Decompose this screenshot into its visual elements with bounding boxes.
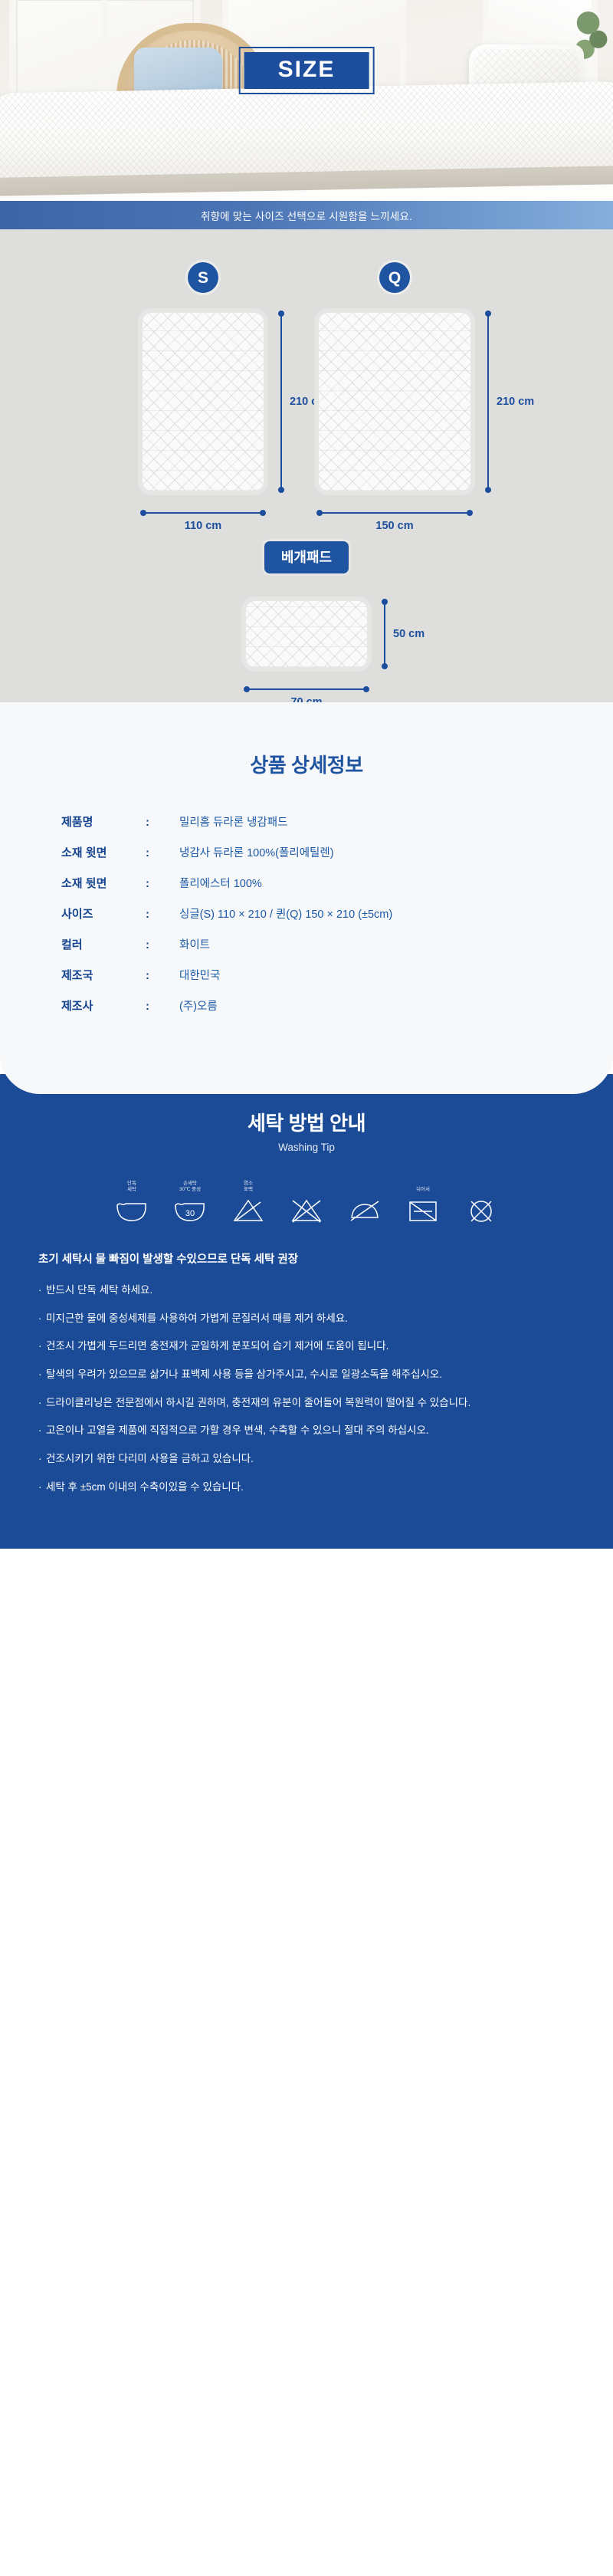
- washing-title: 세탁 방법 안내: [0, 1108, 613, 1136]
- spec-table: 제품명 : 밀리홈 듀라론 냉감패드 소재 윗면 : 냉감사 듀라론 100%(…: [61, 813, 552, 1014]
- single-width-dimension: 110 cm: [143, 512, 264, 514]
- spec-row: 소재 뒷면 : 폴리에스터 100%: [61, 875, 552, 891]
- spec-value: 밀리홈 듀라론 냉감패드: [179, 813, 287, 830]
- shade-dry-caption: 뉘어서: [416, 1179, 430, 1193]
- queen-badge: Q: [379, 262, 410, 293]
- list-item: 미지근한 물에 중성세제를 사용하여 가볍게 문질러서 때를 제거 하세요.: [38, 1309, 575, 1328]
- hero-subtitle-text: 취향에 맞는 사이즈 선택으로 시원함을 느끼세요.: [201, 208, 412, 223]
- single-badge: S: [188, 262, 218, 293]
- size-diagram-row: S 210 cm 110 cm Q: [0, 262, 613, 491]
- single-size-block: S 210 cm 110 cm: [143, 262, 264, 491]
- blue-cushion-image: [134, 48, 222, 95]
- spec-value: 대한민국: [179, 967, 220, 983]
- spec-key: 제조국: [61, 967, 146, 983]
- pillow-pad-title: 베개패드: [264, 541, 349, 573]
- spec-value: 싱글(S) 110 × 210 / 퀸(Q) 150 × 210 (±5cm): [179, 905, 392, 922]
- list-item: 건조시키기 위한 다리미 사용을 금하고 있습니다.: [38, 1450, 575, 1468]
- shade-dry-icon: 뉘어서: [399, 1179, 447, 1225]
- pillow-title-wrap: 베개패드: [0, 541, 613, 573]
- spec-row: 제조국 : 대한민국: [61, 967, 552, 983]
- spec-row: 제품명 : 밀리홈 듀라론 냉감패드: [61, 813, 552, 830]
- no-bleach-caption: 염소표백: [244, 1179, 253, 1193]
- pillow-width-line: [246, 688, 367, 690]
- washing-lead-text: 초기 세탁시 물 빠짐이 발생할 수있으므로 단독 세탁 권장: [38, 1251, 575, 1269]
- hero-subtitle-bar: 취향에 맞는 사이즈 선택으로 시원함을 느끼세요.: [0, 201, 613, 230]
- washing-subtitle: Washing Tip: [0, 1142, 613, 1153]
- size-badge-label: SIZE: [244, 52, 369, 89]
- pillow-pad-shape: [246, 601, 367, 667]
- spec-value: (주)오름: [179, 997, 218, 1014]
- single-width-label: 110 cm: [185, 520, 221, 532]
- care-symbol-row: 단독세탁 손세탁30℃ 중성 30 염소표백: [0, 1179, 613, 1225]
- list-item: 드라이클리닝은 전문점에서 하시길 권하며, 충전재의 유분이 줄어들어 복원력…: [38, 1394, 575, 1412]
- spec-key: 제품명: [61, 813, 146, 830]
- spec-row: 소재 윗면 : 냉감사 듀라론 100%(폴리에틸렌): [61, 844, 552, 860]
- list-item: 세탁 후 ±5cm 이내의 수축이있을 수 있습니다.: [38, 1478, 575, 1497]
- size-badge-outline: SIZE: [239, 47, 375, 94]
- no-iron-icon: [341, 1179, 388, 1225]
- queen-height-label: 210 cm: [497, 396, 534, 408]
- spec-row: 제조사 : (주)오름: [61, 997, 552, 1014]
- spec-key: 사이즈: [61, 905, 146, 922]
- spec-colon: :: [146, 938, 179, 951]
- single-mattress-shape: [143, 313, 264, 491]
- spec-value: 냉감사 듀라론 100%(폴리에틸렌): [179, 844, 334, 860]
- single-height-dimension: 210 cm: [280, 313, 282, 491]
- list-item: 탈색의 우려가 있으므로 삶거나 표백제 사용 등을 삼가주시고, 수시로 일광…: [38, 1365, 575, 1384]
- washing-instruction-list: 반드시 단독 세탁 하세요. 미지근한 물에 중성세제를 사용하여 가볍게 문질…: [38, 1281, 575, 1496]
- queen-mattress-shape: [319, 313, 470, 491]
- list-item: 고온이나 고열을 제품에 직접적으로 가할 경우 변색, 수축할 수 있으니 절…: [38, 1421, 575, 1440]
- queen-size-block: Q 210 cm 150 cm: [319, 262, 470, 491]
- spec-colon: :: [146, 908, 179, 921]
- separate-wash-caption: 단독세탁: [127, 1179, 136, 1193]
- spec-key: 컬러: [61, 936, 146, 952]
- spec-key: 제조사: [61, 997, 146, 1014]
- spec-colon: :: [146, 969, 179, 982]
- queen-width-dimension: 150 cm: [319, 512, 470, 514]
- pillow-width-dimension: 70 cm: [246, 688, 367, 690]
- queen-height-dimension: 210 cm: [487, 313, 489, 491]
- pillow-height-line: [384, 601, 385, 667]
- svg-text:30: 30: [185, 1209, 195, 1218]
- hand-wash-caption: 손세탁30℃ 중성: [179, 1179, 201, 1193]
- queen-width-line: [319, 512, 470, 514]
- separate-wash-icon: 단독세탁: [108, 1179, 156, 1225]
- list-item: 건조시 가볍게 두드리면 충전재가 균일하게 분포되어 습기 제거에 도움이 됩…: [38, 1337, 575, 1355]
- spec-colon: :: [146, 816, 179, 829]
- spec-colon: :: [146, 877, 179, 890]
- hero-banner: SIZE: [0, 0, 613, 201]
- spec-value: 화이트: [179, 936, 210, 952]
- no-oxygen-bleach-icon: [283, 1179, 330, 1225]
- size-diagram-section: S 210 cm 110 cm Q: [0, 230, 613, 702]
- single-mattress-diagram: 210 cm 110 cm: [143, 313, 264, 491]
- pillow-diagram-wrap: 50 cm 70 cm: [0, 601, 613, 667]
- pillow-pad-diagram: 50 cm 70 cm: [246, 601, 367, 667]
- single-height-line: [280, 313, 282, 491]
- hand-wash-30-icon: 손세탁30℃ 중성 30: [166, 1179, 214, 1225]
- spec-colon: :: [146, 846, 179, 859]
- spec-row: 사이즈 : 싱글(S) 110 × 210 / 퀸(Q) 150 × 210 (…: [61, 905, 552, 922]
- spec-value: 폴리에스터 100%: [179, 875, 262, 891]
- product-detail-section: 상품 상세정보 제품명 : 밀리홈 듀라론 냉감패드 소재 윗면 : 냉감사 듀…: [0, 702, 613, 1094]
- no-bleach-icon: 염소표백: [225, 1179, 272, 1225]
- spec-key: 소재 뒷면: [61, 875, 146, 891]
- size-badge: SIZE: [235, 43, 379, 98]
- single-width-line: [143, 512, 264, 514]
- pillow-height-label: 50 cm: [393, 628, 425, 640]
- product-detail-page: SIZE 취향에 맞는 사이즈 선택으로 시원함을 느끼세요. S 210 cm: [0, 0, 613, 1549]
- pillow-height-dimension: 50 cm: [384, 601, 385, 667]
- spec-key: 소재 윗면: [61, 844, 146, 860]
- spec-colon: :: [146, 1000, 179, 1013]
- no-dryclean-icon: [457, 1179, 505, 1225]
- list-item: 반드시 단독 세탁 하세요.: [38, 1281, 575, 1299]
- spec-row: 컬러 : 화이트: [61, 936, 552, 952]
- washing-section: 세탁 방법 안내 Washing Tip 단독세탁 손세탁30℃ 중성 30: [0, 1074, 613, 1549]
- queen-width-label: 150 cm: [375, 520, 413, 532]
- queen-height-line: [487, 313, 489, 491]
- queen-mattress-diagram: 210 cm 150 cm: [319, 313, 470, 491]
- detail-section-title: 상품 상세정보: [0, 750, 613, 778]
